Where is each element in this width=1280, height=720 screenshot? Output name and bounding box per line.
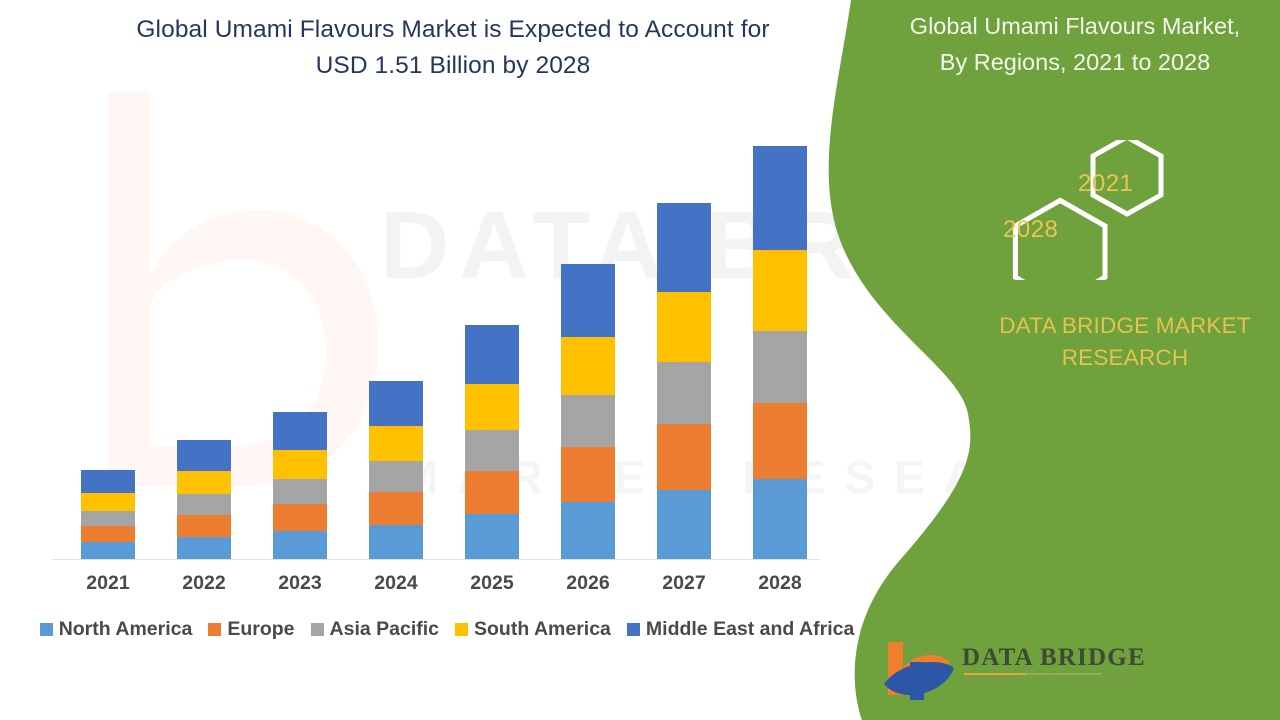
bar-column	[561, 264, 615, 560]
bar-segment	[465, 471, 519, 514]
legend-swatch-icon	[455, 623, 468, 636]
bar-column	[369, 381, 423, 560]
bar-segment	[273, 412, 327, 451]
bar-segment	[273, 504, 327, 532]
legend-label: Asia Pacific	[330, 618, 439, 641]
bar-segment	[465, 384, 519, 430]
legend-label: South America	[474, 618, 611, 641]
bar-segment	[177, 537, 231, 560]
legend-item[interactable]: Middle East and Africa	[627, 618, 854, 641]
bar-segment	[657, 424, 711, 490]
brand-name-line-1: DATA BRIDGE MARKET	[960, 310, 1280, 342]
bar-column	[465, 325, 519, 560]
bar-segment	[177, 471, 231, 494]
bar-segment	[177, 494, 231, 515]
legend-swatch-icon	[208, 623, 221, 636]
logo-wordmark: DATA BRIDGE	[962, 644, 1146, 672]
bar-segment	[753, 250, 807, 331]
legend-label: Europe	[227, 618, 294, 641]
x-axis-tick-label: 2027	[644, 572, 724, 595]
bar-segment	[273, 479, 327, 504]
bar-segment	[369, 492, 423, 525]
bar-column	[753, 146, 807, 560]
legend-item[interactable]: South America	[455, 618, 611, 641]
x-axis-tick-label: 2028	[740, 572, 820, 595]
legend-swatch-icon	[311, 623, 324, 636]
bar-segment	[273, 450, 327, 479]
legend-swatch-icon	[40, 623, 53, 636]
x-axis-tick-label: 2022	[164, 572, 244, 595]
x-axis-tick-label: 2024	[356, 572, 436, 595]
chart-legend: North AmericaEuropeAsia PacificSouth Ame…	[52, 615, 842, 643]
plot-area	[52, 120, 820, 560]
bar-segment	[177, 515, 231, 537]
bar-segment	[657, 362, 711, 424]
bar-segment	[465, 430, 519, 471]
infographic-canvas: DATA BRIDGE MARKET RESEARCH Global Umami…	[0, 0, 1280, 720]
chart-panel: DATA BRIDGE MARKET RESEARCH Global Umami…	[0, 0, 900, 720]
bar-segment	[273, 531, 327, 560]
logo-divider	[964, 673, 1102, 675]
bar-segment	[369, 461, 423, 492]
x-axis-tick-label: 2025	[452, 572, 532, 595]
bar-segment	[177, 440, 231, 471]
brand-name-line-2: RESEARCH	[960, 342, 1280, 374]
bar-segment	[81, 526, 135, 543]
company-logo: DATA BRIDGE MARKET RESEARCH	[880, 638, 1110, 700]
bar-segment	[369, 381, 423, 426]
legend-item[interactable]: Europe	[208, 618, 294, 641]
x-axis-tick-label: 2021	[68, 572, 148, 595]
bar-segment	[561, 447, 615, 502]
legend-label: North America	[59, 618, 193, 641]
bar-segment	[753, 146, 807, 249]
bar-segment	[465, 325, 519, 384]
bar-segment	[753, 403, 807, 479]
bar-column	[177, 440, 231, 560]
bar-segment	[657, 292, 711, 362]
bar-segment	[465, 514, 519, 560]
legend-swatch-icon	[627, 623, 640, 636]
bar-column	[657, 203, 711, 560]
bar-segment	[657, 490, 711, 560]
x-axis-tick-label: 2023	[260, 572, 340, 595]
bar-column	[81, 470, 135, 560]
bar-segment	[657, 203, 711, 292]
bar-segment	[81, 493, 135, 511]
bar-segment	[561, 395, 615, 447]
bar-segment	[753, 479, 807, 560]
bar-segment	[81, 542, 135, 560]
bar-column	[273, 412, 327, 560]
bar-segment	[81, 470, 135, 493]
legend-label: Middle East and Africa	[646, 618, 854, 641]
page-title: Global Umami Flavours Market is Expected…	[60, 12, 846, 84]
legend-item[interactable]: North America	[40, 618, 193, 641]
page-title-line-1: Global Umami Flavours Market is Expected…	[60, 12, 846, 48]
logo-tagline: MARKET RESEARCH	[966, 676, 1143, 687]
axis-baseline	[52, 559, 820, 560]
bar-segment	[561, 502, 615, 560]
bar-segment	[561, 264, 615, 337]
bar-segment	[561, 337, 615, 395]
bar-segment	[753, 331, 807, 403]
brand-name-text: DATA BRIDGE MARKET RESEARCH	[960, 310, 1280, 374]
brand-panel-title: Global Umami Flavours Market, By Regions…	[880, 8, 1270, 80]
page-title-line-2: USD 1.51 Billion by 2028	[60, 48, 846, 84]
x-axis-tick-label: 2026	[548, 572, 628, 595]
x-axis-labels: 20212022202320242025202620272028	[52, 572, 820, 602]
bar-segment	[369, 525, 423, 560]
bar-segment	[369, 426, 423, 461]
legend-item[interactable]: Asia Pacific	[311, 618, 439, 641]
brand-panel-title-line-2: By Regions, 2021 to 2028	[880, 44, 1270, 80]
bar-segment	[81, 511, 135, 526]
brand-panel-title-line-1: Global Umami Flavours Market,	[880, 8, 1270, 44]
